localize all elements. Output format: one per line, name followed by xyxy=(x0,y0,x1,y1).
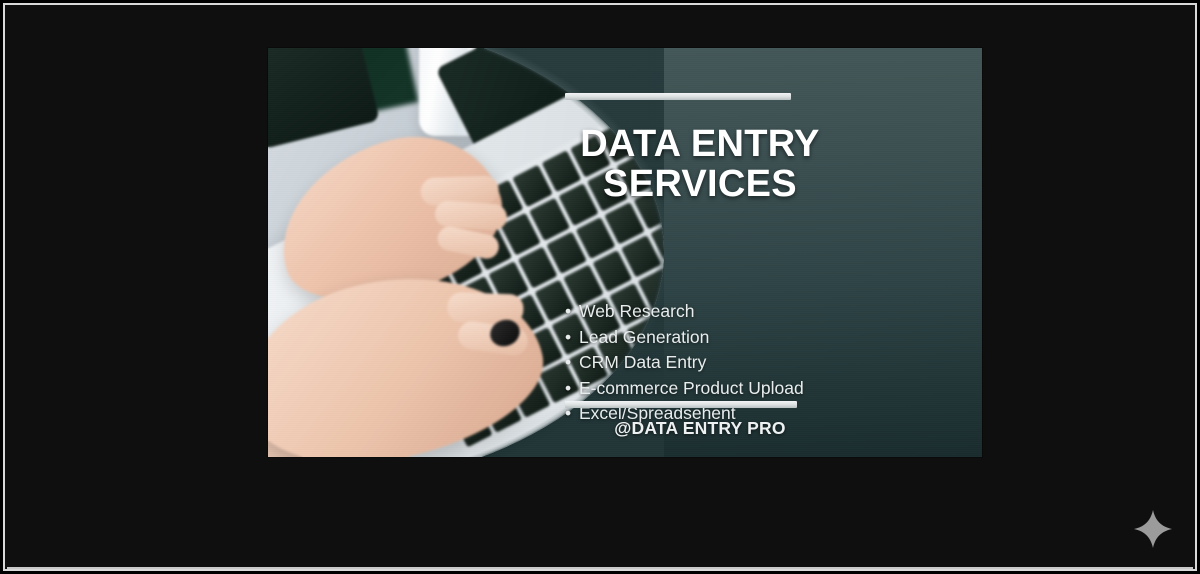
page-title: DATA ENTRY SERVICES xyxy=(550,124,850,205)
brand-handle: @DATA ENTRY PRO xyxy=(550,418,850,439)
frame-bottom-rule xyxy=(7,567,1193,569)
list-item: Web Research xyxy=(565,299,804,325)
list-item: E-commerce Product Upload xyxy=(565,376,804,402)
divider-bottom xyxy=(565,401,797,408)
sparkle-icon[interactable] xyxy=(1132,508,1174,550)
title-line-2: SERVICES xyxy=(550,164,850,204)
title-line-1: DATA ENTRY xyxy=(580,123,819,165)
divider-top xyxy=(565,93,791,100)
list-item: CRM Data Entry xyxy=(565,350,804,376)
list-item: Lead Generation xyxy=(565,325,804,351)
promo-card: DATA ENTRY SERVICES Web Research Lead Ge… xyxy=(268,48,982,457)
screenshot-stage: DATA ENTRY SERVICES Web Research Lead Ge… xyxy=(0,0,1200,574)
